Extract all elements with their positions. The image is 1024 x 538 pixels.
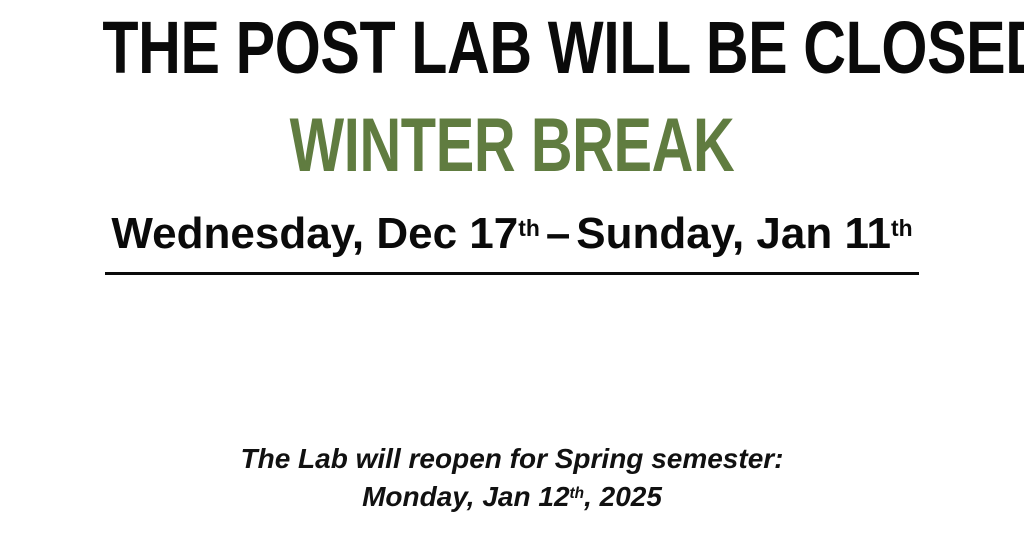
closure-start-ordinal: th — [518, 215, 540, 241]
reopen-date-prefix: Monday, Jan 12 — [362, 481, 569, 512]
announcement-poster: THE POST LAB WILL BE CLOSED FOR WINTER B… — [0, 0, 1024, 538]
headline-accent-winter-break: WINTER BREAK — [123, 104, 901, 188]
reopen-notice: The Lab will reopen for Spring semester:… — [0, 440, 1024, 521]
closure-date-range-underlined: Wednesday, Dec 17th–Sunday, Jan 11th — [105, 206, 918, 275]
closure-end-ordinal: th — [891, 215, 913, 241]
reopen-date-ordinal: th — [570, 485, 585, 502]
reopen-notice-line-1: The Lab will reopen for Spring semester: — [0, 440, 1024, 478]
reopen-notice-line-2: Monday, Jan 12th, 2025 — [0, 478, 1024, 521]
date-range-separator: – — [540, 209, 576, 258]
closure-end-date: Sunday, Jan 11 — [576, 209, 891, 258]
closure-date-range: Wednesday, Dec 17th–Sunday, Jan 11th — [0, 206, 1024, 275]
headline-primary: THE POST LAB WILL BE CLOSED FOR — [102, 8, 921, 88]
closure-start-date: Wednesday, Dec 17 — [111, 209, 518, 258]
reopen-date-year: , 2025 — [584, 481, 662, 512]
